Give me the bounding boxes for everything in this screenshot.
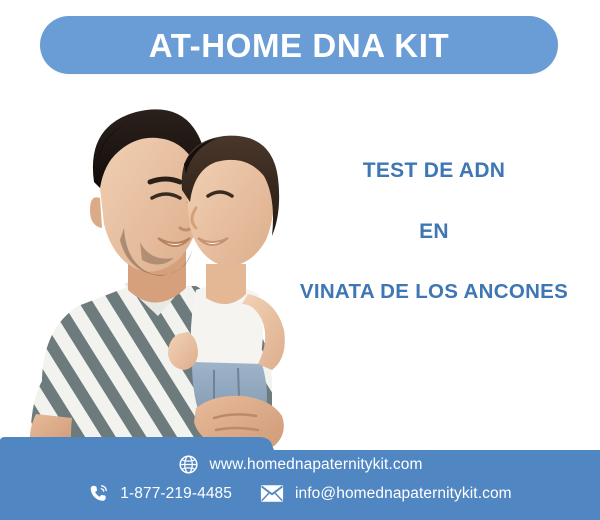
footer-content: www.homednapaternitykit.com 1-877-219-44… <box>0 435 600 520</box>
footer-contact-row: 1-877-219-4485 info@homednapaternitykit.… <box>0 483 600 504</box>
footer-website-item[interactable]: www.homednapaternitykit.com <box>178 454 423 475</box>
dna-kit-banner: AT-HOME DNA KIT <box>0 0 600 520</box>
footer-email-item[interactable]: info@homednapaternitykit.com <box>260 484 512 503</box>
family-photo-illustration <box>0 78 310 450</box>
footer-website-row: www.homednapaternitykit.com <box>0 454 600 475</box>
page-title: AT-HOME DNA KIT <box>149 29 449 62</box>
phone-icon <box>88 483 109 504</box>
globe-icon <box>178 454 199 475</box>
footer-phone-label: 1-877-219-4485 <box>120 485 232 503</box>
header-pill: AT-HOME DNA KIT <box>40 16 558 74</box>
footer-bar: www.homednapaternitykit.com 1-877-219-44… <box>0 435 600 520</box>
envelope-icon <box>260 484 284 503</box>
headline-line-2: EN <box>268 221 600 242</box>
headline-block: TEST DE ADN EN VINATA DE LOS ANCONES <box>268 160 600 303</box>
family-photo <box>0 78 310 450</box>
headline-line-3: VINATA DE LOS ANCONES <box>268 282 600 303</box>
footer-email-label: info@homednapaternitykit.com <box>295 485 512 503</box>
footer-phone-item[interactable]: 1-877-219-4485 <box>88 483 232 504</box>
headline-line-1: TEST DE ADN <box>268 160 600 181</box>
footer-website-label: www.homednapaternitykit.com <box>210 456 423 474</box>
